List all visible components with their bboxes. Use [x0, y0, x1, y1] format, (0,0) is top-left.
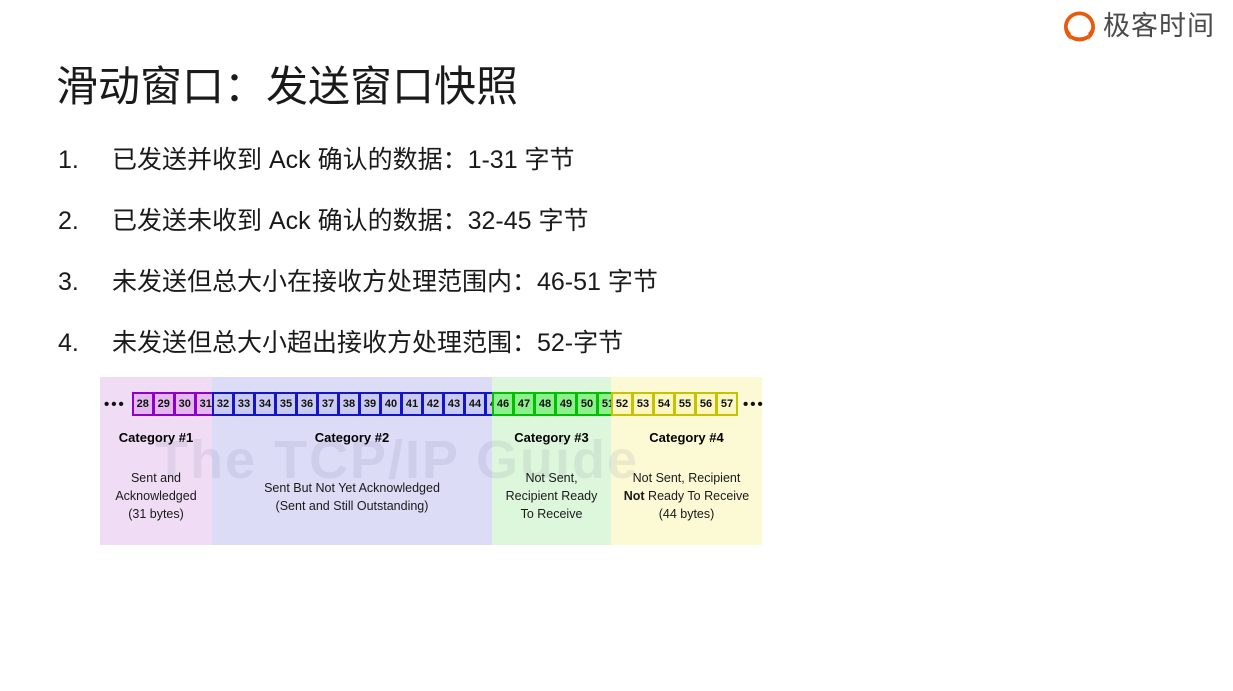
- list-item: 1. 已发送并收到 Ack 确认的数据：1-31 字节: [58, 140, 958, 201]
- category-description-line: (44 bytes): [624, 505, 750, 523]
- byte-cell: 50: [576, 392, 598, 416]
- category-description: Not Sent, Recipient Ready To Receive: [506, 469, 598, 523]
- category-label: Category #2: [315, 430, 389, 445]
- category-description: Not Sent, Recipient Not Ready To Receive…: [624, 469, 750, 523]
- byte-cell: 55: [674, 392, 696, 416]
- category-description: Sent and Acknowledged (31 bytes): [115, 469, 196, 523]
- byte-cell: 52: [611, 392, 633, 416]
- category-label: Category #3: [514, 430, 588, 445]
- category-column-1: ••• 28 29 30 31 Category #1 Sent and Ack…: [100, 377, 212, 545]
- byte-cell: 46: [492, 392, 514, 416]
- byte-cell: 37: [317, 392, 339, 416]
- byte-cell: 29: [153, 392, 175, 416]
- byte-cell: 48: [534, 392, 556, 416]
- byte-cells-strip-1: ••• 28 29 30 31: [98, 391, 216, 417]
- byte-cell: 44: [464, 392, 486, 416]
- category-column-4: 52 53 54 55 56 57 ••• Category #4 Not Se…: [611, 377, 762, 545]
- list-item: 2. 已发送未收到 Ack 确认的数据：32-45 字节: [58, 201, 958, 262]
- list-item-number: 1.: [58, 146, 112, 175]
- list-item-number: 4.: [58, 329, 112, 358]
- byte-cell: 39: [359, 392, 381, 416]
- byte-cell: 41: [401, 392, 423, 416]
- slide-title: 滑动窗口：发送窗口快照: [56, 61, 518, 114]
- tcp-send-window-diagram: The TCP/IP Guide ••• 28 29 30 31 Categor…: [100, 377, 762, 545]
- byte-cell: 40: [380, 392, 402, 416]
- list-item-text: 已发送未收到 Ack 确认的数据：32-45 字节: [112, 201, 588, 237]
- category-description-line: (31 bytes): [115, 505, 196, 523]
- category-description-line: Acknowledged: [115, 487, 196, 505]
- list-item: 3. 未发送但总大小在接收方处理范围内：46-51 字节: [58, 262, 958, 323]
- category-description: Sent But Not Yet Acknowledged (Sent and …: [264, 479, 440, 515]
- byte-cell: 56: [695, 392, 717, 416]
- category-label: Category #1: [119, 430, 193, 445]
- trailing-ellipsis: •••: [737, 397, 771, 412]
- byte-cell: 28: [132, 392, 154, 416]
- byte-cells-strip-4: 52 53 54 55 56 57 •••: [611, 391, 771, 417]
- list-item-text: 未发送但总大小超出接收方处理范围：52-字节: [112, 323, 623, 359]
- byte-cell: 49: [555, 392, 577, 416]
- geekbang-circle-logo-icon: [1063, 10, 1096, 43]
- byte-cell: 47: [513, 392, 535, 416]
- list-item-number: 2.: [58, 207, 112, 236]
- byte-cell: 53: [632, 392, 654, 416]
- leading-ellipsis: •••: [98, 397, 132, 412]
- brand-logo: 极客时间: [1063, 10, 1215, 43]
- byte-cell: 32: [212, 392, 234, 416]
- brand-name: 极客时间: [1103, 13, 1215, 40]
- category-column-3: 46 47 48 49 50 51 Category #3 Not Sent, …: [492, 377, 611, 545]
- list-item-number: 3.: [58, 268, 112, 297]
- list-item-text: 未发送但总大小在接收方处理范围内：46-51 字节: [112, 262, 658, 298]
- category-description-line-emphasized: Not Ready To Receive: [624, 487, 750, 505]
- byte-cell: 42: [422, 392, 444, 416]
- emphasis-not: Not: [624, 489, 645, 503]
- category-description-line: (Sent and Still Outstanding): [264, 497, 440, 515]
- category-label: Category #4: [649, 430, 723, 445]
- category-description-line: To Receive: [506, 505, 598, 523]
- byte-cell: 54: [653, 392, 675, 416]
- byte-cell: 57: [716, 392, 738, 416]
- category-description-line: Sent But Not Yet Acknowledged: [264, 479, 440, 497]
- category-column-2: 32 33 34 35 36 37 38 39 40 41 42 43 44 4…: [212, 377, 492, 545]
- byte-cell: 33: [233, 392, 255, 416]
- byte-cell: 35: [275, 392, 297, 416]
- byte-cell: 43: [443, 392, 465, 416]
- byte-cell: 38: [338, 392, 360, 416]
- byte-cell: 34: [254, 392, 276, 416]
- list-item: 4. 未发送但总大小超出接收方处理范围：52-字节: [58, 323, 958, 384]
- byte-cell: 30: [174, 392, 196, 416]
- list-item-text: 已发送并收到 Ack 确认的数据：1-31 字节: [112, 140, 575, 176]
- byte-cells-strip-2: 32 33 34 35 36 37 38 39 40 41 42 43 44 4…: [212, 391, 506, 417]
- emphasis-rest: Ready To Receive: [648, 489, 749, 503]
- category-description-line: Recipient Ready: [506, 487, 598, 505]
- category-description-line: Sent and: [115, 469, 196, 487]
- byte-cell: 36: [296, 392, 318, 416]
- byte-cells-strip-3: 46 47 48 49 50 51: [492, 391, 618, 417]
- bullet-list: 1. 已发送并收到 Ack 确认的数据：1-31 字节 2. 已发送未收到 Ac…: [58, 140, 958, 384]
- category-description-line: Not Sent, Recipient: [624, 469, 750, 487]
- category-description-line: Not Sent,: [506, 469, 598, 487]
